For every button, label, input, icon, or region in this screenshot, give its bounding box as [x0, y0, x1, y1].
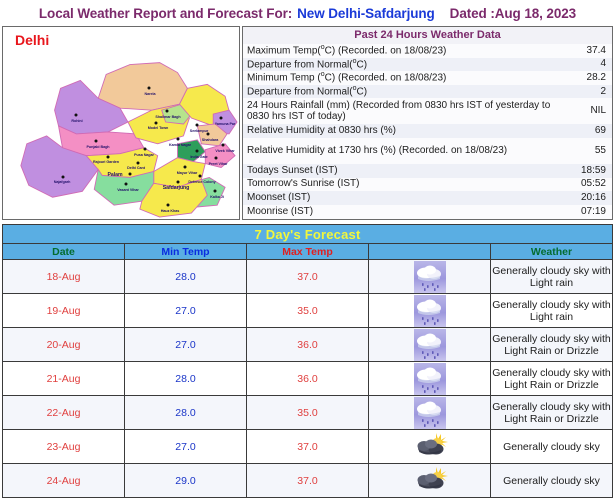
weather-data-row: Relative Humidity at 1730 hrs (%) (Recor…	[243, 138, 612, 164]
label-part-1: Departure from Normal(	[247, 59, 353, 70]
map-label: Defence Colony	[188, 180, 215, 184]
map-label: Palam	[107, 172, 122, 178]
map-station-dot	[107, 156, 110, 159]
forecast-weather-description: Generally cloudy sky	[491, 430, 613, 464]
map-station-dot	[196, 124, 199, 127]
column-header-weather: Weather	[491, 244, 613, 260]
weather-data-label: Maximum Temp(oC) (Recorded. on 18/08/23)	[247, 44, 562, 57]
map-label: Delhi Cant	[127, 166, 145, 170]
forecast-min-temp: 27.0	[125, 328, 247, 362]
weather-data-row: Relative Humidity at 0830 hrs (%)69	[243, 124, 612, 138]
forecast-max-temp: 37.0	[247, 430, 369, 464]
weather-data-value: 4	[562, 58, 608, 70]
forecast-date: 19-Aug	[3, 294, 125, 328]
map-label: Narela	[145, 92, 156, 96]
forecast-banner: 7 Day's Forecast	[3, 225, 613, 244]
weather-data-row: Moonset (IST)20:16	[243, 191, 612, 205]
forecast-row: 20-Aug27.036.0Generally cloudy sky with …	[3, 328, 613, 362]
forecast-body: 18-Aug28.037.0Generally cloudy sky with …	[3, 260, 613, 498]
weather-data-value: 20:16	[562, 192, 608, 204]
weather-data-label: Relative Humidity at 1730 hrs (%) (Recor…	[247, 145, 562, 157]
sun-behind-cloud-icon	[412, 431, 448, 463]
map-label: Model Town	[148, 126, 169, 130]
rain-cloud-icon	[412, 363, 448, 395]
label-part-2: C)	[357, 86, 368, 97]
forecast-max-temp: 35.0	[247, 294, 369, 328]
rain-cloud-icon	[412, 329, 448, 361]
forecast-weather-description: Generally cloudy sky with Light Rain or …	[491, 362, 613, 396]
map-station-dot	[166, 110, 169, 113]
forecast-min-temp: 28.0	[125, 396, 247, 430]
weather-data-row: Maximum Temp(oC) (Recorded. on 18/08/23)…	[243, 44, 612, 58]
map-station-dot	[155, 122, 158, 125]
map-label: Najafgarh	[54, 180, 71, 184]
weather-data-row: Todays Sunset (IST)18:59	[243, 164, 612, 178]
map-label: Vivek Vihar	[215, 149, 234, 153]
map-station-dot	[75, 114, 78, 117]
map-label: Preet Vihar	[209, 162, 228, 166]
past-24h-title: Past 24 Hours Weather Data	[243, 27, 612, 44]
forecast-row: 22-Aug28.035.0Generally cloudy sky with …	[3, 396, 613, 430]
forecast-header-row: Date Min Temp Max Temp Weather	[3, 244, 613, 260]
report-date: Dated :Aug 18, 2023	[450, 6, 576, 21]
forecast-row: 18-Aug28.037.0Generally cloudy sky with …	[3, 260, 613, 294]
weather-data-value: 28.2	[562, 72, 608, 84]
map-station-dot	[167, 204, 170, 207]
rain-cloud-icon	[412, 295, 448, 327]
forecast-max-temp: 37.0	[247, 260, 369, 294]
weather-data-value: 69	[562, 125, 608, 137]
weather-report-page: Local Weather Report and Forecast For: N…	[0, 0, 615, 482]
sun-behind-cloud-icon	[369, 430, 491, 464]
map-label: Rajouri Garden	[93, 160, 119, 164]
page-title: Local Weather Report and Forecast For: N…	[0, 0, 615, 26]
map-title: Delhi	[15, 32, 49, 48]
forecast-weather-description: Generally cloudy sky with Light rain	[491, 294, 613, 328]
label-part-1: Maximum Temp(	[247, 46, 321, 57]
weather-data-label: Moonrise (IST)	[247, 206, 562, 218]
forecast-max-temp: 37.0	[247, 464, 369, 498]
rain-cloud-icon	[369, 294, 491, 328]
map-label: Kalka Ji	[210, 195, 224, 199]
weather-data-value: 18:59	[562, 165, 608, 177]
forecast-min-temp: 29.0	[125, 464, 247, 498]
rain-cloud-icon	[369, 260, 491, 294]
weather-data-label: Departure from Normal(oC)	[247, 85, 562, 98]
forecast-date: 23-Aug	[3, 430, 125, 464]
upper-section: Delhi	[0, 26, 615, 220]
weather-data-row: Moonrise (IST)07:19	[243, 205, 612, 219]
sun-behind-cloud-icon	[412, 465, 448, 497]
column-header-date: Date	[3, 244, 125, 260]
weather-data-label: Todays Sunset (IST)	[247, 165, 562, 177]
weather-data-row: Minimum Temp (oC) (Recorded. on 18/08/23…	[243, 71, 612, 85]
map-label: Seelampur	[190, 129, 208, 133]
rain-cloud-icon	[412, 261, 448, 293]
map-label: India Gate	[190, 155, 207, 159]
forecast-max-temp: 35.0	[247, 396, 369, 430]
map-station-dot	[144, 148, 147, 151]
map-station-dot	[129, 173, 132, 176]
label-part-2: C)	[357, 59, 368, 70]
weather-data-value: 05:52	[562, 178, 608, 190]
label-part-2: C) (Recorded. on 18/08/23)	[325, 46, 447, 57]
forecast-min-temp: 28.0	[125, 362, 247, 396]
column-header-min-temp: Min Temp	[125, 244, 247, 260]
label-part-1: Minimum Temp (	[247, 73, 321, 84]
forecast-row: 24-Aug29.037.0Generally cloudy sky	[3, 464, 613, 498]
map-label: Punjabi Bagh	[87, 145, 110, 149]
weather-data-value: 2	[562, 86, 608, 98]
map-label: Safdarjung	[163, 185, 190, 191]
sun-behind-cloud-icon	[369, 464, 491, 498]
map-station-dot	[177, 138, 180, 141]
rain-cloud-icon	[412, 397, 448, 429]
weather-data-label: Minimum Temp (oC) (Recorded. on 18/08/23…	[247, 71, 562, 84]
station-name: New Delhi-Safdarjung	[297, 6, 435, 21]
map-label: Kamla Nagar	[169, 143, 191, 147]
map-label: Mayur Vihar	[177, 171, 198, 175]
forecast-date: 18-Aug	[3, 260, 125, 294]
weather-data-label: Relative Humidity at 0830 hrs (%)	[247, 125, 562, 137]
past-24h-rows: Maximum Temp(oC) (Recorded. on 18/08/23)…	[243, 44, 612, 219]
map-label: Shalimar Bagh	[155, 115, 180, 119]
map-station-dot	[137, 162, 140, 165]
label-part-2: C) (Recorded. on 18/08/23)	[325, 73, 447, 84]
past-24h-panel: Past 24 Hours Weather Data Maximum Temp(…	[242, 26, 613, 220]
map-label: Yamuna Par	[215, 122, 236, 126]
forecast-weather-description: Generally cloudy sky with Light rain	[491, 260, 613, 294]
weather-data-row: Departure from Normal(oC)2	[243, 85, 612, 99]
weather-data-row: Departure from Normal(oC)4	[243, 58, 612, 72]
weather-data-label: 24 Hours Rainfall (mm) (Recorded from 08…	[247, 100, 562, 124]
map-station-dot	[62, 176, 65, 179]
column-header-max-temp: Max Temp	[247, 244, 369, 260]
map-station-dot	[214, 190, 217, 193]
rain-cloud-icon	[369, 396, 491, 430]
forecast-weather-description: Generally cloudy sky with Light Rain or …	[491, 328, 613, 362]
weather-data-label: Departure from Normal(oC)	[247, 58, 562, 71]
map-station-dot	[196, 150, 199, 153]
forecast-date: 21-Aug	[3, 362, 125, 396]
forecast-row: 23-Aug27.037.0Generally cloudy sky	[3, 430, 613, 464]
weather-data-label: Moonset (IST)	[247, 192, 562, 204]
forecast-weather-description: Generally cloudy sky	[491, 464, 613, 498]
rain-cloud-icon	[369, 328, 491, 362]
map-station-dot	[220, 117, 223, 120]
forecast-max-temp: 36.0	[247, 328, 369, 362]
column-header-icon	[369, 244, 491, 260]
weather-data-value: NIL	[562, 105, 608, 117]
forecast-date: 20-Aug	[3, 328, 125, 362]
map-station-dot	[222, 144, 225, 147]
map-label: Shahdara	[202, 138, 218, 142]
map-station-dot	[215, 157, 218, 160]
forecast-row: 21-Aug28.036.0Generally cloudy sky with …	[3, 362, 613, 396]
map-station-dot	[95, 140, 98, 143]
weather-data-value: 37.4	[562, 45, 608, 57]
map-label: Vasant Vihar	[117, 188, 138, 192]
forecast-weather-description: Generally cloudy sky with Light Rain or …	[491, 396, 613, 430]
title-main-text: Local Weather Report and Forecast For:	[39, 6, 292, 21]
map-station-dot	[125, 183, 128, 186]
map-label: Rohini	[71, 119, 82, 123]
delhi-map-panel[interactable]: Delhi	[2, 26, 240, 220]
forecast-table: 7 Day's Forecast Date Min Temp Max Temp …	[2, 224, 613, 498]
weather-data-value: 55	[562, 145, 608, 157]
map-station-dot	[177, 181, 180, 184]
map-label: Pusa Nagar	[134, 153, 154, 157]
forecast-min-temp: 27.0	[125, 430, 247, 464]
weather-data-value: 07:19	[562, 206, 608, 218]
forecast-date: 24-Aug	[3, 464, 125, 498]
forecast-date: 22-Aug	[3, 396, 125, 430]
map-station-dot	[199, 175, 202, 178]
forecast-max-temp: 36.0	[247, 362, 369, 396]
weather-data-row: 24 Hours Rainfall (mm) (Recorded from 08…	[243, 98, 612, 124]
forecast-row: 19-Aug27.035.0Generally cloudy sky with …	[3, 294, 613, 328]
rain-cloud-icon	[369, 362, 491, 396]
forecast-min-temp: 27.0	[125, 294, 247, 328]
weather-data-label: Tomorrow's Sunrise (IST)	[247, 178, 562, 190]
forecast-min-temp: 28.0	[125, 260, 247, 294]
map-label: Hauz Khas	[161, 209, 179, 213]
map-station-dot	[148, 87, 151, 90]
map-station-dot	[184, 166, 187, 169]
label-part-1: Departure from Normal(	[247, 86, 353, 97]
weather-data-row: Tomorrow's Sunrise (IST)05:52	[243, 178, 612, 192]
